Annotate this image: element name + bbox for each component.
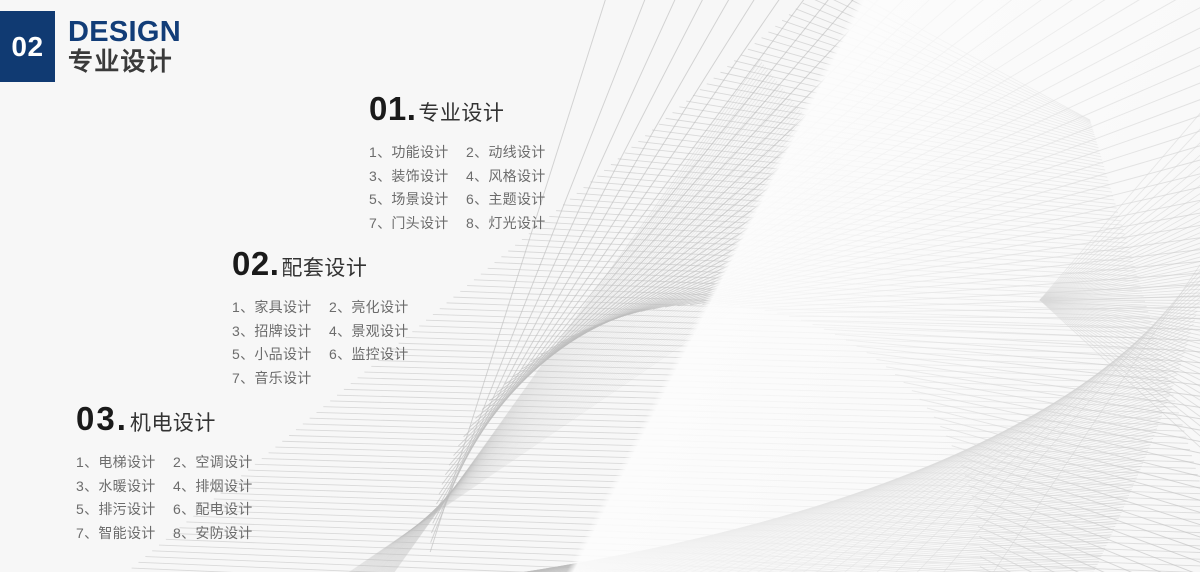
- list-item: 3、招牌设计: [232, 320, 329, 344]
- list-item-row: 5、场景设计6、主题设计: [369, 188, 546, 212]
- section-number: 03.: [76, 402, 128, 435]
- list-item: 5、排污设计: [76, 498, 173, 522]
- list-item-row: 5、小品设计6、监控设计: [232, 343, 409, 367]
- section-number-badge-label: 02: [11, 33, 43, 61]
- section-title: 机电设计: [130, 413, 216, 434]
- section-number: 01.: [369, 92, 416, 125]
- list-item: 4、排烟设计: [173, 475, 253, 499]
- section-heading: 02. 配套设计: [232, 247, 409, 280]
- section-item-list: 1、功能设计2、动线设计3、装饰设计4、风格设计5、场景设计6、主题设计7、门头…: [369, 141, 546, 235]
- list-item: 4、风格设计: [466, 165, 546, 189]
- list-item: 8、灯光设计: [466, 212, 546, 236]
- section-item-list: 1、家具设计2、亮化设计3、招牌设计4、景观设计5、小品设计6、监控设计7、音乐…: [232, 296, 409, 390]
- list-item-row: 3、招牌设计4、景观设计: [232, 320, 409, 344]
- brand-title-cn: 专业设计: [68, 48, 181, 76]
- list-item: 7、门头设计: [369, 212, 466, 236]
- list-item-row: 3、装饰设计4、风格设计: [369, 165, 546, 189]
- list-item: 3、水暖设计: [76, 475, 173, 499]
- list-item: 1、家具设计: [232, 296, 329, 320]
- list-item-row: 1、电梯设计2、空调设计: [76, 451, 253, 475]
- list-item-row: 7、门头设计8、灯光设计: [369, 212, 546, 236]
- list-item: 2、空调设计: [173, 451, 253, 475]
- list-item: 5、场景设计: [369, 188, 466, 212]
- section-title: 配套设计: [281, 258, 367, 279]
- brand-text-group: DESIGN 专业设计: [68, 11, 181, 82]
- section-heading: 03. 机电设计: [76, 402, 253, 435]
- list-item-row: 1、家具设计2、亮化设计: [232, 296, 409, 320]
- list-item: 4、景观设计: [329, 320, 409, 344]
- list-item: 7、智能设计: [76, 522, 173, 546]
- list-item-row: 1、功能设计2、动线设计: [369, 141, 546, 165]
- slide-root: 02 DESIGN 专业设计 01. 专业设计 1、功能设计2、动线设计3、装饰…: [0, 0, 1200, 572]
- section-item-list: 1、电梯设计2、空调设计3、水暖设计4、排烟设计5、排污设计6、配电设计7、智能…: [76, 451, 253, 545]
- list-item-row: 7、智能设计8、安防设计: [76, 522, 253, 546]
- list-item-row: 7、音乐设计: [232, 367, 409, 391]
- section-heading: 01. 专业设计: [369, 92, 546, 125]
- content-section-03: 03. 机电设计 1、电梯设计2、空调设计3、水暖设计4、排烟设计5、排污设计6…: [76, 402, 253, 545]
- list-item: 6、配电设计: [173, 498, 253, 522]
- list-item: 8、安防设计: [173, 522, 253, 546]
- brand-block: 02 DESIGN 专业设计: [0, 11, 181, 82]
- list-item: 1、电梯设计: [76, 451, 173, 475]
- list-item: 1、功能设计: [369, 141, 466, 165]
- list-item-row: 3、水暖设计4、排烟设计: [76, 475, 253, 499]
- list-item: 5、小品设计: [232, 343, 329, 367]
- section-title: 专业设计: [418, 103, 504, 124]
- list-item: 2、亮化设计: [329, 296, 409, 320]
- list-item: 2、动线设计: [466, 141, 546, 165]
- list-item: 7、音乐设计: [232, 367, 329, 391]
- content-section-01: 01. 专业设计 1、功能设计2、动线设计3、装饰设计4、风格设计5、场景设计6…: [369, 92, 546, 235]
- section-number: 02.: [232, 247, 279, 280]
- list-item: 6、监控设计: [329, 343, 409, 367]
- list-item-row: 5、排污设计6、配电设计: [76, 498, 253, 522]
- section-number-badge: 02: [0, 11, 55, 82]
- list-item: 3、装饰设计: [369, 165, 466, 189]
- content-section-02: 02. 配套设计 1、家具设计2、亮化设计3、招牌设计4、景观设计5、小品设计6…: [232, 247, 409, 390]
- list-item: 6、主题设计: [466, 188, 546, 212]
- brand-title-en: DESIGN: [68, 17, 181, 47]
